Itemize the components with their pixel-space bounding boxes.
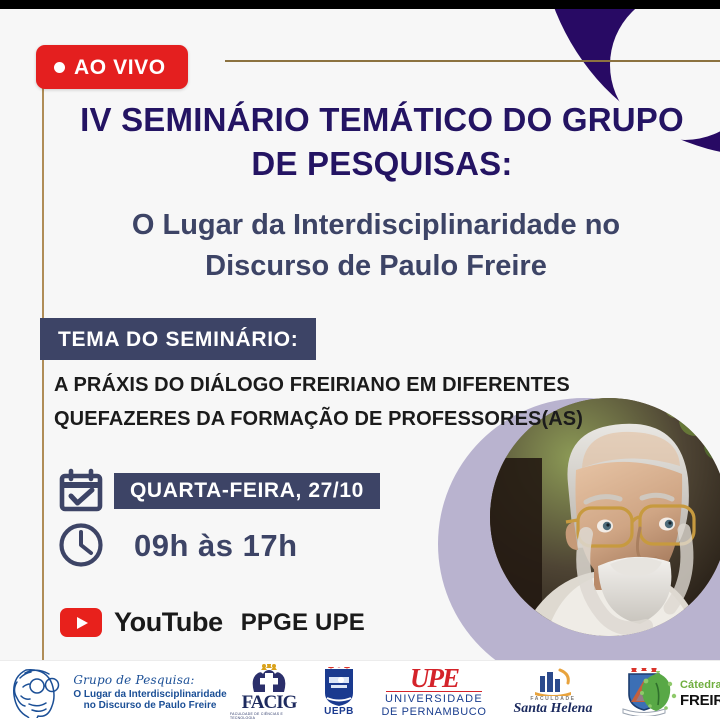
event-info-block: QUARTA-FEIRA, 27/10 09h às 17h bbox=[58, 468, 380, 568]
sponsor-logo-bar: Grupo de Pesquisa: O Lugar da Interdisci… bbox=[0, 660, 720, 723]
logo-catedra-paulo-freire: CátedraPAULO FREIREUFRPE bbox=[680, 661, 720, 723]
title-line-1: IV SEMINÁRIO TEMÁTICO DO GRUPO bbox=[80, 101, 684, 138]
facig-tagline: FACULDADE DE CIÊNCIAS E TECNOLOGIA bbox=[230, 712, 308, 720]
time-label: 09h às 17h bbox=[114, 530, 298, 561]
catedra-word-1: Cátedra bbox=[680, 679, 720, 691]
live-badge[interactable]: AO VIVO bbox=[36, 45, 188, 89]
theme-badge-label: TEMA DO SEMINÁRIO: bbox=[58, 329, 298, 350]
gp-line-1: O Lugar da Interdisciplinaridade bbox=[73, 689, 226, 701]
date-pill: QUARTA-FEIRA, 27/10 bbox=[114, 473, 380, 509]
theme-line-2: QUEFAZERES DA FORMAÇÃO DE PROFESSORES(AS… bbox=[54, 402, 674, 436]
paulo-freire-face-line-icon bbox=[9, 666, 67, 718]
poster-canvas: AO VIVO IV SEMINÁRIO TEMÁTICO DO GRUPO D… bbox=[0, 0, 720, 723]
top-black-band bbox=[0, 0, 720, 9]
date-label: QUARTA-FEIRA, 27/10 bbox=[130, 480, 364, 501]
gold-vertical-rule bbox=[42, 60, 44, 660]
date-row: QUARTA-FEIRA, 27/10 bbox=[58, 468, 380, 514]
youtube-channel-label: PPGE UPE bbox=[241, 611, 365, 635]
live-dot-icon bbox=[54, 62, 65, 73]
theme-badge: TEMA DO SEMINÁRIO: bbox=[40, 318, 316, 360]
subtitle-line-1: O Lugar da Interdisciplinaridade no bbox=[132, 209, 620, 241]
gp-script-text: Grupo de Pesquisa: bbox=[73, 673, 194, 687]
upe-line-2: DE PERNAMBUCO bbox=[382, 706, 487, 718]
logo-facig: FACIG FACULDADE DE CIÊNCIAS E TECNOLOGIA bbox=[230, 661, 308, 723]
subtitle-line-2: Discurso de Paulo Freire bbox=[205, 250, 547, 282]
poster-title: IV SEMINÁRIO TEMÁTICO DO GRUPO DE PESQUI… bbox=[46, 98, 718, 185]
logo-grupo-de-pesquisa: Grupo de Pesquisa: O Lugar da Interdisci… bbox=[0, 661, 230, 723]
upe-line-1: UNIVERSIDADE bbox=[385, 693, 483, 705]
santa-helena-wordmark: Santa Helena bbox=[514, 702, 593, 717]
logo-santa-helena: FACULDADE Santa Helena bbox=[498, 661, 608, 723]
upe-wordmark: UPE bbox=[410, 666, 458, 690]
uepb-wordmark: UEPB bbox=[324, 707, 354, 717]
logo-upe: UPE UNIVERSIDADE DE PERNAMBUCO bbox=[370, 661, 498, 723]
theme-text: A PRÁXIS DO DIÁLOGO FREIRIANO EM DIFEREN… bbox=[54, 368, 674, 437]
clock-icon bbox=[58, 522, 114, 568]
calendar-check-icon bbox=[58, 468, 114, 514]
youtube-label: YouTube bbox=[114, 609, 223, 636]
title-line-2: DE PESQUISAS: bbox=[46, 142, 718, 186]
youtube-play-icon bbox=[60, 608, 102, 637]
time-row: 09h às 17h bbox=[58, 522, 380, 568]
gp-line-2: no Discurso de Paulo Freire bbox=[73, 700, 226, 712]
catedra-word-3: FREIRE bbox=[680, 692, 720, 709]
upe-rule bbox=[386, 691, 482, 693]
theme-line-1: A PRÁXIS DO DIÁLOGO FREIRIANO EM DIFEREN… bbox=[54, 368, 674, 402]
facig-wordmark: FACIG bbox=[242, 694, 297, 712]
stream-row[interactable]: YouTube PPGE UPE bbox=[60, 608, 365, 637]
logo-uepb: UEPB bbox=[308, 661, 370, 723]
poster-subtitle: O Lugar da Interdisciplinaridade no Disc… bbox=[46, 205, 706, 287]
gold-horizontal-rule bbox=[225, 60, 720, 62]
live-badge-label: AO VIVO bbox=[74, 57, 166, 78]
